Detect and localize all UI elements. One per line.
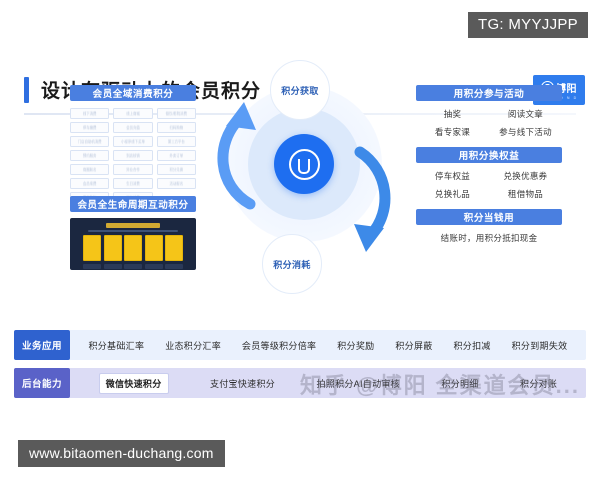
chip-label: 餐饮/影院消费 xyxy=(166,111,187,117)
earn-points-chip: 扫码购物 xyxy=(157,122,196,133)
title-accent-bar xyxy=(24,77,29,103)
chip-label: 商圈联名 xyxy=(83,167,97,173)
lifecycle-illustration xyxy=(70,218,196,270)
capability-row-items: 微信快速积分支付宝快速积分拍照积分AI自动审核积分明细积分对账 xyxy=(70,373,586,394)
capability-item[interactable]: 积分屏蔽 xyxy=(395,339,432,352)
chip-label: 停车缴费 xyxy=(83,125,97,131)
spend-item: 参与线下活动 xyxy=(499,126,552,138)
spend-block-header: 积分当钱用 xyxy=(416,209,562,225)
tg-overlay-badge: TG: MYYJJPP xyxy=(468,12,588,38)
earn-points-chip: 外卖订单 xyxy=(157,150,196,161)
spend-item: 看专家课 xyxy=(435,126,470,138)
spend-block-items: 抽奖阅读文章看专家课参与线下活动 xyxy=(416,108,562,138)
illustration-title-bar xyxy=(106,223,159,228)
illustration-cards xyxy=(75,235,191,261)
earn-points-chip: 生日消费 xyxy=(113,178,152,189)
illustration-card xyxy=(104,235,122,261)
illustration-card xyxy=(83,235,101,261)
bubble-spend: 积分消耗 xyxy=(262,234,322,294)
capability-item[interactable]: 会员等级积分倍率 xyxy=(242,339,316,352)
chip-label: 到店核销 xyxy=(126,153,140,159)
chip-label: 生日消费 xyxy=(126,181,140,187)
chip-label: 会员充值 xyxy=(126,125,140,131)
chip-label: 会员续费 xyxy=(83,181,97,187)
chip-label: 预约服务 xyxy=(83,153,97,159)
earn-points-chip: 会员充值 xyxy=(113,122,152,133)
spend-item: 停车权益 xyxy=(435,170,470,182)
earn-points-chip: 活动报名 xyxy=(157,178,196,189)
earn-points-chip: 积分兑换 xyxy=(157,164,196,175)
capability-item[interactable]: 积分扣减 xyxy=(454,339,491,352)
chip-label: 线上商城 xyxy=(126,111,140,117)
spend-points-column: 用积分参与活动抽奖阅读文章看专家课参与线下活动用积分换权益停车权益兑换优惠券兑换… xyxy=(416,85,562,253)
points-cycle-diagram: 积分获取 积分消耗 xyxy=(208,58,398,298)
capability-row-label: 后台能力 xyxy=(14,368,70,398)
illustration-footer-bar xyxy=(165,264,183,269)
illustration-footer-bar xyxy=(145,264,163,269)
illustration-card xyxy=(124,235,142,261)
illustration-footer-bar xyxy=(104,264,122,269)
capability-row: 后台能力微信快速积分支付宝快速积分拍照积分AI自动审核积分明细积分对账 xyxy=(14,368,586,398)
core-logo-icon xyxy=(289,149,320,180)
chip-label: 扫码购物 xyxy=(170,125,184,131)
illustration-card xyxy=(165,235,183,261)
spend-block-2: 用积分换权益停车权益兑换优惠券兑换礼品租借物品 xyxy=(416,147,562,200)
capability-item[interactable]: 积分基础汇率 xyxy=(88,339,144,352)
url-overlay-badge: www.bitaomen-duchang.com xyxy=(18,440,225,467)
spend-item: 兑换优惠券 xyxy=(503,170,547,182)
earn-points-chip: 线上商城 xyxy=(113,108,152,119)
capability-item[interactable]: 积分到期失效 xyxy=(512,339,568,352)
earn-points-chip-grid: 线下消费线上商城餐饮/影院消费停车缴费会员充值扫码购物门店自助机消费小程序线下买… xyxy=(70,108,196,203)
chip-label: 门店自助机消费 xyxy=(78,139,102,145)
capability-item[interactable]: 支付宝快速积分 xyxy=(210,377,275,390)
spend-block-1: 用积分参与活动抽奖阅读文章看专家课参与线下活动 xyxy=(416,85,562,138)
spend-block-3: 积分当钱用结账时，用积分抵扣现金 xyxy=(416,209,562,244)
illustration-footer-bar xyxy=(83,264,101,269)
lifecycle-block: 会员全生命周期互动积分 xyxy=(70,196,196,270)
earn-points-chip: 餐饮/影院消费 xyxy=(157,108,196,119)
capability-item[interactable]: 积分明细 xyxy=(441,377,478,390)
spend-item: 抽奖 xyxy=(444,108,462,120)
illustration-card xyxy=(145,235,163,261)
earn-points-block: 会员全域消费积分 线下消费线上商城餐饮/影院消费停车缴费会员充值扫码购物门店自助… xyxy=(70,85,196,203)
capability-row-items: 积分基础汇率业态积分汇率会员等级积分倍率积分奖励积分屏蔽积分扣减积分到期失效 xyxy=(70,339,586,352)
spend-item: 租借物品 xyxy=(508,188,543,200)
capability-row-label: 业务应用 xyxy=(14,330,70,360)
earn-points-chip: 停车缴费 xyxy=(70,122,109,133)
chip-label: 异业合作 xyxy=(126,167,140,173)
earn-points-chip: 到店核销 xyxy=(113,150,152,161)
earn-points-chip: 预约服务 xyxy=(70,150,109,161)
illustration-footer-bar xyxy=(124,264,142,269)
capability-item[interactable]: 积分奖励 xyxy=(337,339,374,352)
spend-item: 兑换礼品 xyxy=(435,188,470,200)
earn-points-chip: 会员续费 xyxy=(70,178,109,189)
spend-block-header: 用积分参与活动 xyxy=(416,85,562,101)
chip-label: 线下消费 xyxy=(83,111,97,117)
lifecycle-header: 会员全生命周期互动积分 xyxy=(70,196,196,212)
earn-points-chip: 第三方平台 xyxy=(157,136,196,147)
earn-points-chip: 门店自助机消费 xyxy=(70,136,109,147)
earn-points-chip: 商圈联名 xyxy=(70,164,109,175)
capability-row: 业务应用积分基础汇率业态积分汇率会员等级积分倍率积分奖励积分屏蔽积分扣减积分到期… xyxy=(14,330,586,360)
earn-points-header: 会员全域消费积分 xyxy=(70,85,196,101)
illustration-subtitle-bar xyxy=(88,230,178,232)
cycle-arrow-up-icon xyxy=(206,100,266,210)
spend-block-header: 用积分换权益 xyxy=(416,147,562,163)
capability-rows: 业务应用积分基础汇率业态积分汇率会员等级积分倍率积分奖励积分屏蔽积分扣减积分到期… xyxy=(14,330,586,406)
spend-item: 结账时，用积分抵扣现金 xyxy=(441,232,538,244)
spend-block-items: 结账时，用积分抵扣现金 xyxy=(416,232,562,244)
capability-item[interactable]: 拍照积分AI自动审核 xyxy=(316,377,400,390)
spend-block-items: 停车权益兑换优惠券兑换礼品租借物品 xyxy=(416,170,562,200)
chip-label: 活动报名 xyxy=(170,181,184,187)
earn-points-chip: 线下消费 xyxy=(70,108,109,119)
capability-item[interactable]: 业态积分汇率 xyxy=(165,339,221,352)
bubble-earn: 积分获取 xyxy=(270,60,330,120)
illustration-footer-bars xyxy=(75,264,191,269)
chip-label: 第三方平台 xyxy=(168,139,185,145)
cycle-arrow-down-icon xyxy=(348,146,406,256)
capability-item-highlighted[interactable]: 微信快速积分 xyxy=(99,373,169,394)
spend-item: 阅读文章 xyxy=(508,108,543,120)
chip-label: 小程序线下买单 xyxy=(121,139,145,145)
earn-points-chip: 小程序线下买单 xyxy=(113,136,152,147)
chip-label: 积分兑换 xyxy=(170,167,184,173)
chip-label: 外卖订单 xyxy=(170,153,184,159)
earn-points-chip: 异业合作 xyxy=(113,164,152,175)
capability-item[interactable]: 积分对账 xyxy=(520,377,557,390)
slide-canvas: TG: MYYJJPP 设计有驱动力的会员积分 博阳 B E Y O N D 会… xyxy=(0,0,600,480)
cycle-core-logo xyxy=(274,134,334,194)
